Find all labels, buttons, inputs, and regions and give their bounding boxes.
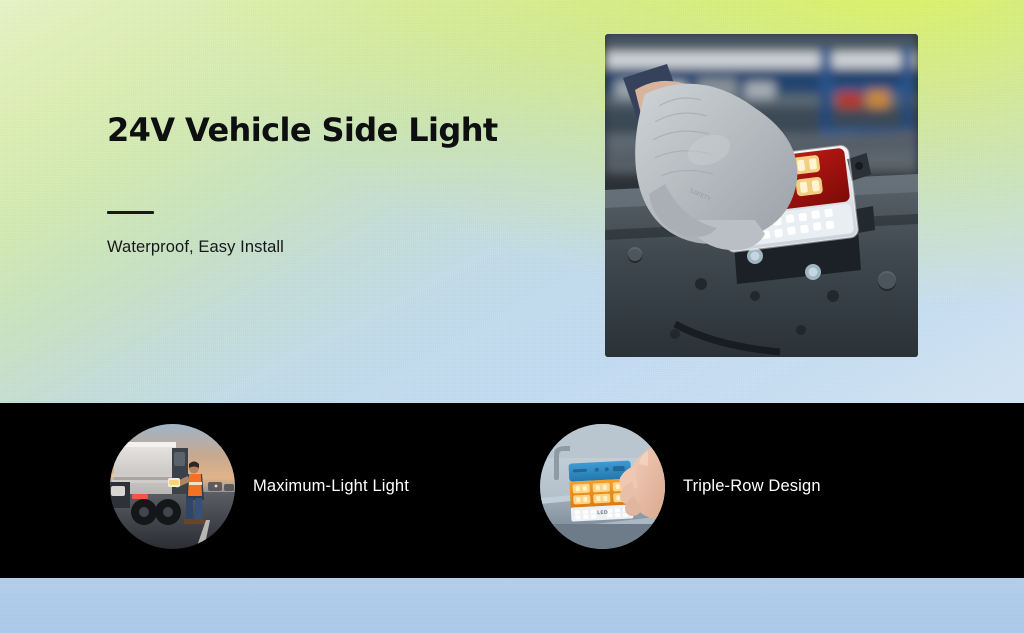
hero-photo-illustration: LED bbox=[605, 34, 918, 357]
feature-band: Maximum-Light Light bbox=[0, 403, 1024, 578]
feature-item-triple-row: LED Triple-Row Design bbox=[540, 424, 821, 549]
feature-item-maximum-light: Maximum-Light Light bbox=[110, 424, 409, 549]
title-divider-rule bbox=[107, 211, 154, 214]
hero-copy-block: 24V Vehicle Side Light Waterproof, Easy … bbox=[107, 113, 547, 258]
feature-label-triple-row: Triple-Row Design bbox=[683, 477, 821, 496]
hero-product-photo: LED bbox=[605, 34, 918, 357]
feature-thumbnail-amber-led-module: LED bbox=[540, 424, 665, 549]
feature-label-maximum-light: Maximum-Light Light bbox=[253, 477, 409, 496]
product-banner: 24V Vehicle Side Light Waterproof, Easy … bbox=[0, 0, 1024, 633]
page-title: 24V Vehicle Side Light bbox=[107, 113, 547, 149]
hero-subtitle: Waterproof, Easy Install bbox=[107, 236, 547, 258]
bottom-color-strip bbox=[0, 578, 1024, 633]
truck-at-dusk-illustration bbox=[110, 424, 235, 549]
amber-led-module-illustration: LED bbox=[540, 424, 665, 549]
feature-thumbnail-truck-at-dusk bbox=[110, 424, 235, 549]
svg-text:LED: LED bbox=[597, 510, 608, 517]
strip-noise-overlay bbox=[0, 578, 1024, 633]
hero-panel: 24V Vehicle Side Light Waterproof, Easy … bbox=[0, 0, 1024, 403]
